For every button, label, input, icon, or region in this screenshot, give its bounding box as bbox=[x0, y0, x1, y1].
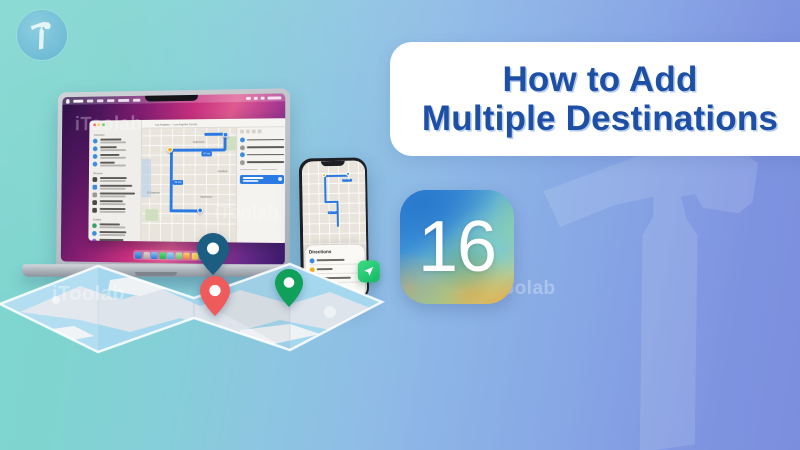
route-segment bbox=[324, 174, 348, 176]
clock-icon bbox=[240, 160, 245, 165]
list-item-text bbox=[99, 224, 137, 228]
iphone-notch bbox=[321, 160, 345, 165]
selected-route-card[interactable] bbox=[240, 175, 284, 183]
guide-icon bbox=[92, 239, 97, 243]
guide-icon bbox=[92, 231, 97, 236]
inspector-row[interactable] bbox=[240, 152, 284, 157]
map-waypoint-pin[interactable] bbox=[167, 147, 173, 153]
list-item[interactable] bbox=[92, 239, 137, 243]
route-time-chip[interactable]: 44 min bbox=[342, 178, 352, 182]
location-icon bbox=[240, 137, 245, 142]
apple-logo-icon[interactable] bbox=[66, 98, 70, 103]
sidebar-section-recents: Recents bbox=[94, 172, 137, 175]
tab-walk[interactable] bbox=[261, 169, 277, 171]
list-item-text bbox=[99, 193, 137, 197]
destination-pin-red[interactable] bbox=[199, 275, 231, 317]
map-park-area bbox=[145, 209, 158, 221]
list-item-text bbox=[99, 208, 137, 212]
info-icon[interactable] bbox=[258, 129, 262, 133]
list-item-text bbox=[99, 231, 137, 235]
ios-16-icon: 16 bbox=[400, 190, 514, 304]
maps-inspector-panel[interactable] bbox=[236, 127, 286, 243]
hammer-logo-icon bbox=[29, 20, 55, 50]
inspector-row[interactable] bbox=[240, 137, 284, 142]
inspector-row[interactable] bbox=[240, 160, 284, 165]
list-item[interactable] bbox=[93, 146, 137, 151]
menu-item-file[interactable] bbox=[87, 99, 93, 102]
list-item[interactable] bbox=[93, 138, 137, 143]
sidebar-section-guides: Guides bbox=[93, 218, 137, 221]
list-item[interactable] bbox=[92, 192, 136, 197]
inspector-toolbar[interactable] bbox=[240, 129, 261, 133]
pin-drop-icon[interactable] bbox=[246, 130, 250, 134]
search-icon[interactable] bbox=[261, 96, 265, 99]
title-line-1: How to Add bbox=[390, 60, 800, 99]
map-label: Gardena bbox=[218, 170, 228, 173]
ios-version-label: 16 bbox=[400, 190, 514, 304]
list-item-text bbox=[100, 139, 137, 143]
close-icon[interactable] bbox=[278, 177, 282, 181]
list-item-text bbox=[99, 185, 137, 189]
tab-drive[interactable] bbox=[240, 169, 258, 171]
list-item-text bbox=[100, 162, 138, 166]
list-item[interactable] bbox=[92, 223, 136, 228]
list-item[interactable] bbox=[93, 162, 137, 167]
list-item[interactable] bbox=[93, 154, 137, 159]
menu-bar-clock[interactable] bbox=[268, 96, 282, 99]
bag-icon bbox=[92, 200, 97, 205]
title-line-2: Multiple Destinations bbox=[390, 99, 800, 138]
pin-icon bbox=[93, 177, 98, 182]
maps-window-title: Los Angeles — Los Angeles County bbox=[155, 122, 197, 126]
screen-watermark-text-2: iToolab bbox=[214, 203, 279, 225]
macbook-notch bbox=[145, 95, 198, 102]
pin-icon bbox=[92, 185, 97, 190]
menu-item-edit[interactable] bbox=[97, 99, 103, 102]
map-label: El Segundo bbox=[147, 192, 160, 195]
list-item[interactable] bbox=[92, 185, 136, 190]
list-item-text bbox=[99, 177, 137, 181]
stop-icon bbox=[240, 145, 245, 150]
list-item-text bbox=[99, 201, 137, 205]
title-lines: How to Add Multiple Destinations bbox=[390, 60, 800, 138]
map-waypoint-pin[interactable] bbox=[223, 132, 229, 138]
thumbnail-canvas: iToolab iToolab Favorites bbox=[0, 0, 800, 450]
title-card: How to Add Multiple Destinations bbox=[390, 42, 800, 156]
list-item-text bbox=[100, 146, 138, 150]
star-icon bbox=[93, 162, 98, 167]
list-item[interactable] bbox=[92, 200, 136, 205]
list-item-text bbox=[99, 239, 137, 243]
guide-icon bbox=[92, 223, 97, 228]
destination-pin-blue[interactable] bbox=[196, 232, 230, 276]
list-item[interactable] bbox=[93, 177, 137, 182]
menu-bar-status-area[interactable] bbox=[246, 96, 281, 100]
share-icon[interactable] bbox=[252, 129, 256, 133]
battery-icon[interactable] bbox=[246, 96, 251, 99]
screen-watermark-text: iToolab bbox=[75, 113, 143, 136]
map-waypoint-pin[interactable] bbox=[322, 173, 327, 178]
list-item[interactable] bbox=[92, 231, 137, 236]
car-icon bbox=[93, 154, 98, 159]
menu-item-view[interactable] bbox=[107, 99, 114, 102]
route-segment bbox=[324, 175, 326, 203]
maps-sidebar[interactable]: Favorites Recents Guides bbox=[88, 120, 142, 241]
list-item-text bbox=[100, 154, 138, 158]
macbook-lid: iToolab iToolab Favorites bbox=[56, 88, 290, 272]
map-waypoint-pin[interactable] bbox=[197, 208, 203, 214]
route-icon bbox=[92, 192, 97, 197]
list-item[interactable] bbox=[92, 208, 136, 213]
paper-map-illustration bbox=[0, 246, 390, 366]
iphone-map-canvas[interactable]: 44 min 21 min bbox=[301, 160, 366, 249]
macbook-screen: iToolab iToolab Favorites bbox=[61, 93, 285, 265]
menu-item-help[interactable] bbox=[133, 98, 140, 101]
route-time-chip[interactable]: 52 min bbox=[173, 180, 184, 185]
flag-icon bbox=[240, 152, 245, 157]
home-icon bbox=[93, 139, 98, 144]
route-segment bbox=[170, 148, 225, 151]
map-label: Hawthorne bbox=[200, 196, 212, 199]
wifi-icon[interactable] bbox=[254, 96, 258, 99]
inspector-row[interactable] bbox=[240, 145, 284, 150]
directions-icon[interactable] bbox=[240, 130, 244, 134]
inspector-tabs[interactable] bbox=[240, 169, 284, 171]
route-time-chip[interactable]: 21 min bbox=[327, 210, 337, 214]
menu-item-maps[interactable] bbox=[73, 99, 83, 102]
route-segment bbox=[170, 209, 201, 212]
brand-logo bbox=[17, 10, 67, 60]
route-time-chip[interactable]: 47 min bbox=[201, 151, 212, 156]
map-label: Inglewood bbox=[193, 141, 204, 144]
work-icon bbox=[93, 146, 98, 151]
destination-pin-green[interactable] bbox=[274, 268, 304, 308]
map-waypoint-pin[interactable] bbox=[345, 171, 350, 176]
cup-icon bbox=[92, 208, 97, 213]
menu-item-window[interactable] bbox=[118, 98, 129, 101]
